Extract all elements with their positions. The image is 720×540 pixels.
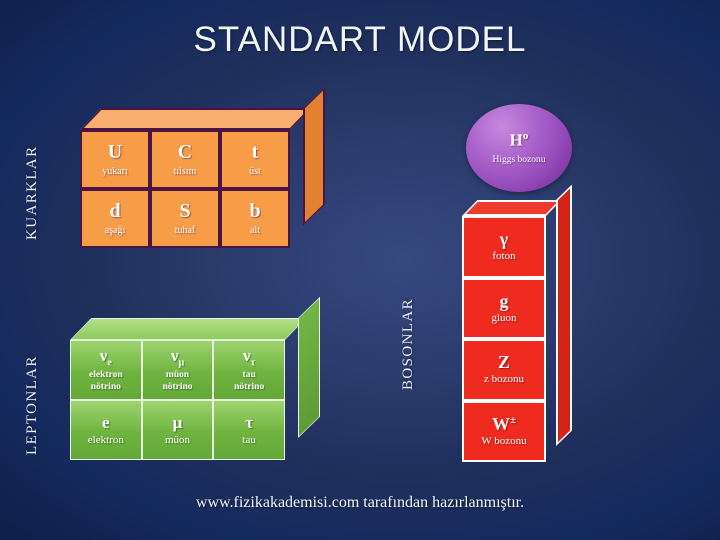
page-title: STANDART MODEL	[0, 20, 720, 60]
quark-cell-up[interactable]: U yukarı	[80, 130, 150, 189]
lepton-symbol: e	[102, 414, 110, 431]
lepton-name: elektronnötrino	[89, 370, 123, 392]
boson-name: foton	[492, 250, 515, 263]
lepton-cell-muon-neutrino[interactable]: νμ müonnötrino	[142, 340, 214, 400]
quark-block-side-face	[303, 87, 325, 226]
quark-symbol: d	[109, 201, 120, 222]
boson-name: gluon	[491, 312, 516, 325]
lepton-symbol: τ	[245, 414, 253, 431]
slide-canvas: STANDART MODEL KUARKLAR LEPTONLAR BOSONL…	[0, 0, 720, 540]
lepton-name: elektron	[88, 434, 124, 447]
boson-symbol: g	[500, 292, 509, 310]
quark-name: üst	[249, 166, 261, 178]
boson-block-side-face	[556, 185, 572, 446]
lepton-block: νe elektronnötrino νμ müonnötrino ντ tau…	[70, 318, 320, 460]
quark-block: U yukarı C tılsım t üst d aşağı S tuhaf …	[80, 108, 325, 248]
quark-grid: U yukarı C tılsım t üst d aşağı S tuhaf …	[80, 130, 290, 248]
lepton-block-top-face	[70, 318, 306, 340]
higgs-symbol: Ho	[510, 131, 529, 149]
section-label-leptons: LEPTONLAR	[24, 355, 41, 455]
boson-symbol: Z	[498, 353, 510, 371]
section-label-bosons: BOSONLAR	[400, 298, 417, 390]
lepton-name: taunötrino	[234, 370, 264, 392]
lepton-symbol: νμ	[171, 347, 184, 368]
lepton-grid: νe elektronnötrino νμ müonnötrino ντ tau…	[70, 340, 285, 460]
boson-block-top-face	[462, 200, 561, 216]
quark-symbol: C	[178, 142, 192, 163]
boson-cell-z[interactable]: Z z bozonu	[462, 339, 546, 401]
quark-name: aşağı	[105, 225, 126, 237]
higgs-name: Higgs bozonu	[492, 155, 545, 165]
lepton-name: müon	[165, 434, 190, 447]
boson-name: z bozonu	[484, 373, 524, 386]
quark-cell-charm[interactable]: C tılsım	[150, 130, 220, 189]
higgs-boson-sphere[interactable]: Ho Higgs bozonu	[466, 104, 572, 192]
quark-symbol: U	[108, 142, 122, 163]
quark-cell-strange[interactable]: S tuhaf	[150, 189, 220, 248]
lepton-cell-electron-neutrino[interactable]: νe elektronnötrino	[70, 340, 142, 400]
quark-name: yukarı	[102, 166, 128, 178]
lepton-symbol: μ	[173, 414, 183, 431]
boson-cell-gluon[interactable]: g gluon	[462, 278, 546, 340]
lepton-cell-electron[interactable]: e elektron	[70, 400, 142, 460]
boson-symbol: W±	[492, 415, 516, 433]
lepton-name: müonnötrino	[162, 370, 192, 392]
lepton-name: tau	[242, 434, 255, 447]
lepton-symbol: ντ	[243, 347, 255, 368]
quark-symbol: t	[252, 142, 259, 163]
boson-cell-photon[interactable]: γ foton	[462, 216, 546, 278]
section-label-quarks: KUARKLAR	[24, 145, 41, 240]
lepton-block-side-face	[298, 297, 320, 438]
quark-cell-down[interactable]: d aşağı	[80, 189, 150, 248]
quark-symbol: b	[249, 201, 260, 222]
boson-name: W bozonu	[481, 435, 526, 448]
boson-cell-w[interactable]: W± W bozonu	[462, 401, 546, 463]
quark-name: tuhaf	[175, 225, 196, 237]
boson-block: γ foton g gluon Z z bozonu W± W bozonu	[462, 200, 572, 462]
quark-cell-top[interactable]: t üst	[220, 130, 290, 189]
boson-grid: γ foton g gluon Z z bozonu W± W bozonu	[462, 216, 546, 462]
quark-symbol: S	[179, 201, 190, 222]
quark-name: tılsım	[174, 166, 197, 178]
quark-name: alt	[250, 225, 260, 237]
footer-attribution: www.fizikakademisi.com tarafından hazırl…	[0, 494, 720, 512]
lepton-symbol: νe	[100, 347, 112, 368]
lepton-cell-tau[interactable]: τ tau	[213, 400, 285, 460]
quark-block-top-face	[80, 108, 311, 130]
boson-symbol: γ	[500, 230, 508, 248]
lepton-cell-tau-neutrino[interactable]: ντ taunötrino	[213, 340, 285, 400]
quark-cell-bottom[interactable]: b alt	[220, 189, 290, 248]
lepton-cell-muon[interactable]: μ müon	[142, 400, 214, 460]
